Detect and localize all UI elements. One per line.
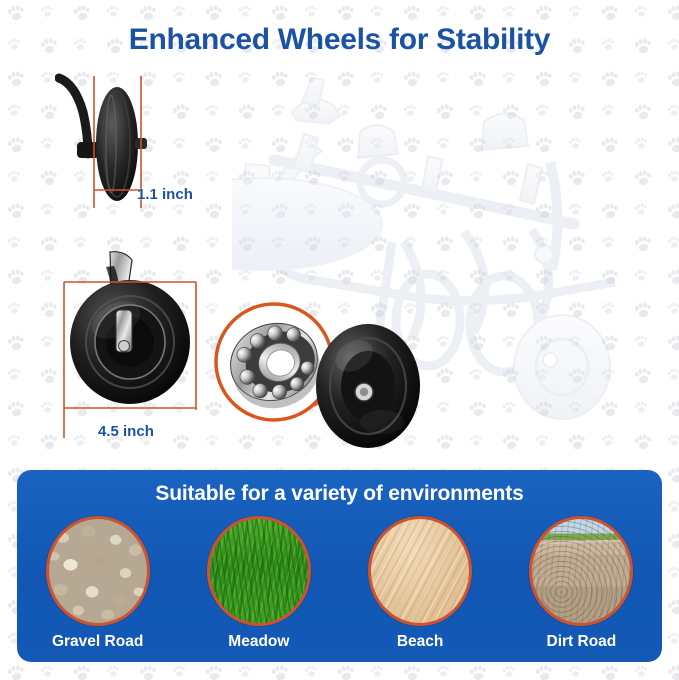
axle-rivet [119,341,130,352]
tire-edge-profile [96,87,138,201]
environments-title: Suitable for a variety of environments [17,482,662,506]
environment-item-meadow[interactable]: Meadow [189,516,329,651]
environment-item-beach[interactable]: Beach [350,516,490,651]
wheel-face-view-measurement [58,250,233,440]
beach-image [368,516,472,626]
environments-list: Gravel Road Meadow Beach Dirt Road [17,516,662,651]
ball-bearing-callout [212,292,442,467]
wheel-width-label: 1.1 inch [137,186,193,203]
product-wheel [316,324,420,448]
axle-clamp [77,142,99,158]
environments-panel: Suitable for a variety of environments G… [17,470,662,662]
environment-label: Gravel Road [52,633,143,651]
wheel-diameter-label: 4.5 inch [98,423,154,440]
gravel-road-image [46,516,150,626]
environment-item-gravel-road[interactable]: Gravel Road [28,516,168,651]
environment-label: Dirt Road [547,633,617,651]
dirt-road-image [529,516,633,626]
environment-label: Beach [397,633,444,651]
environment-label: Meadow [228,633,289,651]
environment-item-dirt-road[interactable]: Dirt Road [511,516,651,651]
meadow-image [207,516,311,626]
page-title: Enhanced Wheels for Stability [0,23,679,57]
